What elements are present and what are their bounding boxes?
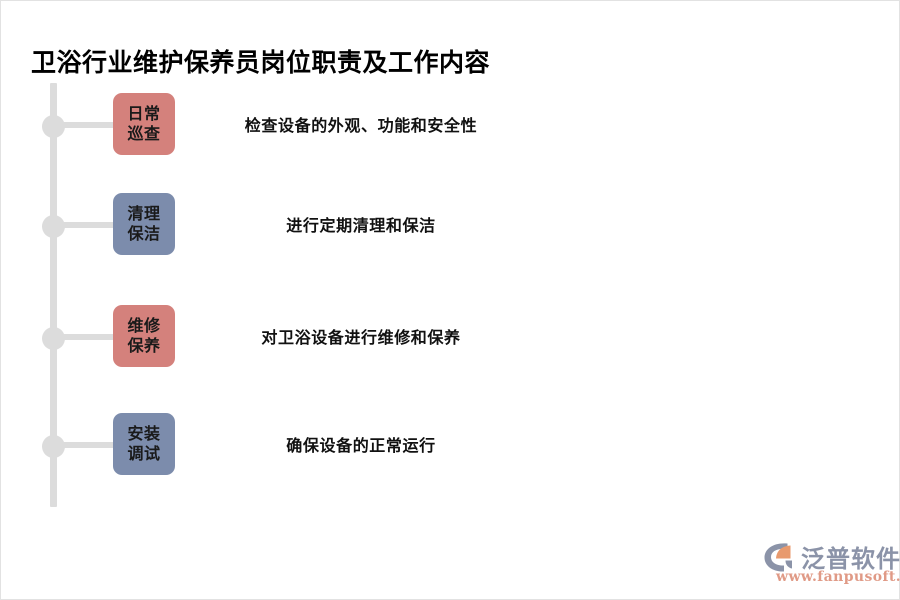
- timeline-node-2: [42, 215, 65, 238]
- timeline-item-4[interactable]: 安装 调试 确保设备的正常运行: [1, 413, 900, 475]
- stage-description-1: 检查设备的外观、功能和安全性: [201, 93, 521, 155]
- stage-box-2[interactable]: 清理 保洁: [113, 193, 175, 255]
- timeline-connector-2: [63, 222, 117, 228]
- brand-url: www.fanpusoft.com: [776, 569, 900, 585]
- timeline-item-2[interactable]: 清理 保洁 进行定期清理和保洁: [1, 193, 900, 255]
- stage-description-3: 对卫浴设备进行维修和保养: [201, 305, 521, 367]
- stage-label-2-line1: 清理: [127, 204, 160, 224]
- stage-label-1-line2: 巡查: [127, 124, 160, 144]
- timeline-node-3: [42, 327, 65, 350]
- stage-label-3-line1: 维修: [127, 316, 160, 336]
- stage-description-4: 确保设备的正常运行: [201, 413, 521, 475]
- timeline-connector-1: [63, 122, 117, 128]
- timeline-node-1: [42, 115, 65, 138]
- stage-box-3[interactable]: 维修 保养: [113, 305, 175, 367]
- timeline-item-3[interactable]: 维修 保养 对卫浴设备进行维修和保养: [1, 305, 900, 367]
- stage-box-4[interactable]: 安装 调试: [113, 413, 175, 475]
- timeline-node-4: [42, 435, 65, 458]
- timeline-connector-3: [63, 334, 117, 340]
- brand-logo: 泛普软件 www.fanpusoft.com: [763, 539, 891, 589]
- timeline-item-1[interactable]: 日常 巡查 检查设备的外观、功能和安全性: [1, 93, 900, 155]
- page-title: 卫浴行业维护保养员岗位职责及工作内容: [31, 43, 490, 79]
- stage-description-2: 进行定期清理和保洁: [201, 193, 521, 255]
- stage-label-1-line1: 日常: [127, 104, 160, 124]
- stage-box-1[interactable]: 日常 巡查: [113, 93, 175, 155]
- diagram-canvas: 卫浴行业维护保养员岗位职责及工作内容 日常 巡查 检查设备的外观、功能和安全性 …: [0, 0, 900, 600]
- stage-label-4-line1: 安装: [127, 424, 160, 444]
- stage-label-4-line2: 调试: [127, 444, 160, 464]
- stage-label-2-line2: 保洁: [127, 224, 160, 244]
- timeline-connector-4: [63, 442, 117, 448]
- stage-label-3-line2: 保养: [127, 336, 160, 356]
